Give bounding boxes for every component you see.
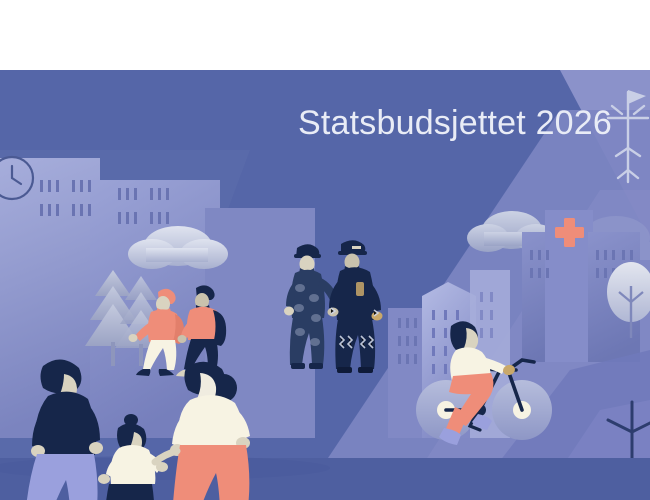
hero-illustration-svg	[0, 70, 650, 500]
hero-illustration: Statsbudsjettet 2026	[0, 70, 650, 500]
page-root: Statsbudsjettet 2026	[0, 0, 650, 500]
window-grid-center-left	[398, 318, 417, 364]
top-white-band	[0, 0, 650, 70]
